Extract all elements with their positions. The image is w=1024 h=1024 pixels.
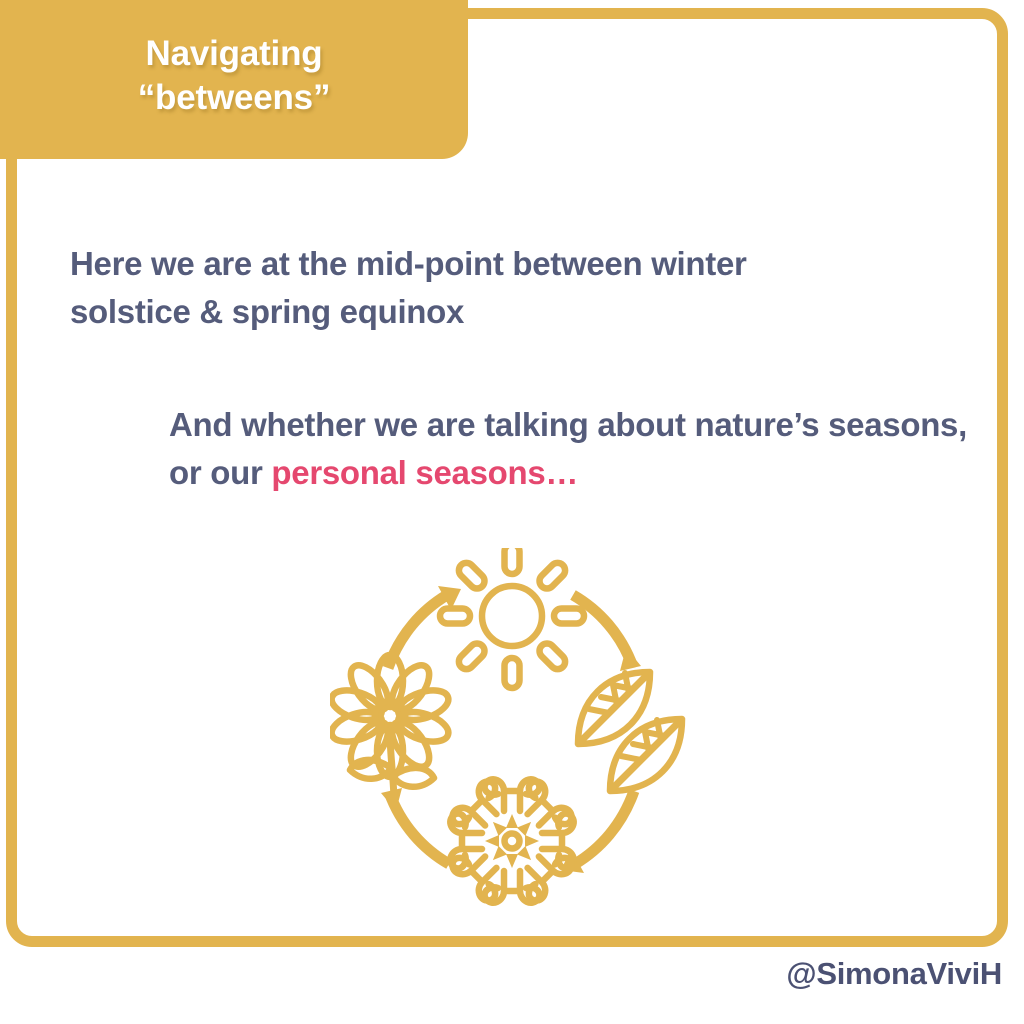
page-title: Navigating “betweens” bbox=[124, 32, 345, 128]
seasons-cycle-diagram bbox=[330, 548, 694, 912]
flower-icon bbox=[330, 655, 452, 798]
body-paragraph-secondary-highlight: personal seasons… bbox=[271, 454, 578, 491]
author-handle: @SimonaViviH bbox=[786, 956, 1002, 992]
curved-arrow-icon bbox=[388, 586, 461, 668]
header-block: Navigating “betweens” bbox=[0, 0, 468, 159]
sun-icon bbox=[440, 548, 584, 688]
snowflake-icon bbox=[449, 778, 575, 904]
body-paragraph-secondary: And whether we are talking about nature’… bbox=[169, 401, 969, 496]
leaves-icon bbox=[578, 672, 682, 791]
slide-canvas: Navigating “betweens” Here we are at the… bbox=[0, 0, 1024, 1024]
body-paragraph-primary: Here we are at the mid-point between win… bbox=[70, 240, 860, 335]
curved-arrow-icon bbox=[573, 595, 641, 671]
